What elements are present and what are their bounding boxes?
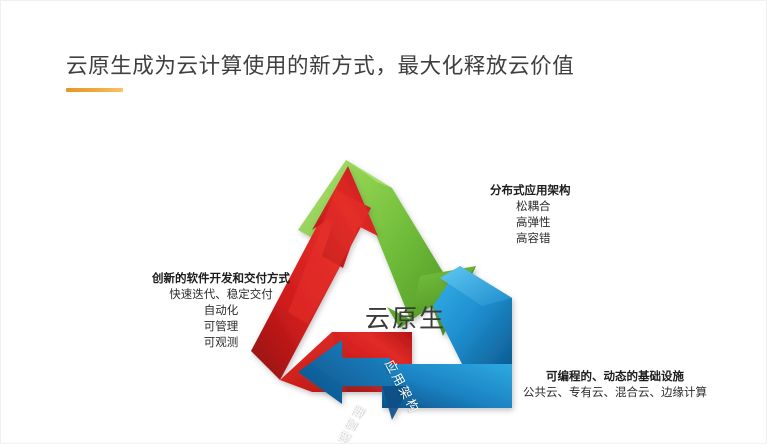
annotation-item: 可管理 <box>152 318 290 334</box>
annotation-item: 公共云、专有云、混合云、边缘计算 <box>523 384 707 400</box>
annotation-item: 高容错 <box>496 230 571 246</box>
slide-canvas: 云原生成为云计算使用的新方式，最大化释放云价值 <box>0 0 767 444</box>
annotation-app-architecture: 分布式应用架构 松耦合 高弹性 高容错 <box>490 182 571 246</box>
annotation-heading: 创新的软件开发和交付方式 <box>152 270 290 286</box>
center-label-cloud-native: 云原生 <box>365 299 446 335</box>
annotation-item: 高弹性 <box>496 214 571 230</box>
annotation-item: 可观测 <box>152 334 290 350</box>
annotation-item: 松耦合 <box>496 198 571 214</box>
title-accent-bar <box>66 88 123 92</box>
annotation-heading: 可编程的、动态的基础设施 <box>523 368 707 384</box>
annotation-item: 自动化 <box>152 302 290 318</box>
annotation-items: 公共云、专有云、混合云、边缘计算 <box>523 384 707 400</box>
title-block: 云原生成为云计算使用的新方式，最大化释放云价值 <box>66 52 706 92</box>
annotation-items: 快速迭代、稳定交付 自动化 可管理 可观测 <box>152 286 290 350</box>
annotation-software-delivery: 创新的软件开发和交付方式 快速迭代、稳定交付 自动化 可管理 可观测 <box>152 270 290 350</box>
page-title: 云原生成为云计算使用的新方式，最大化释放云价值 <box>66 52 706 82</box>
annotation-infrastructure: 可编程的、动态的基础设施 公共云、专有云、混合云、边缘计算 <box>523 368 707 400</box>
annotation-items: 松耦合 高弹性 高容错 <box>490 198 571 246</box>
annotation-heading: 分布式应用架构 <box>490 182 571 198</box>
annotation-item: 快速迭代、稳定交付 <box>152 286 290 302</box>
